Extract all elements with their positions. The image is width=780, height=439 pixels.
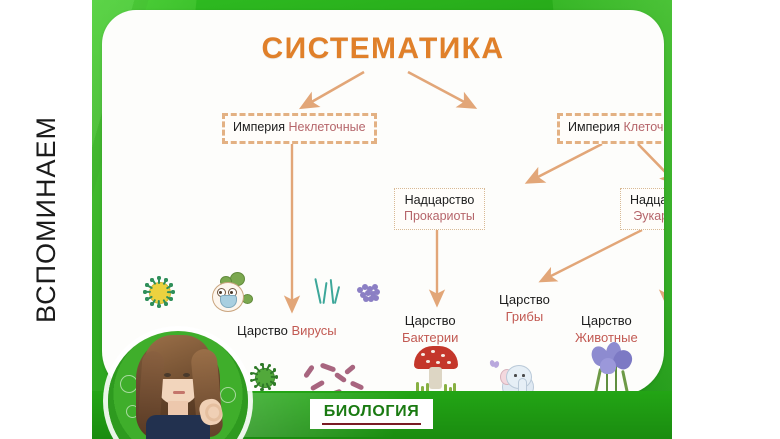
node-term: Прокариоты	[404, 209, 475, 225]
node-term: Вирусы	[291, 323, 336, 338]
node-prefix: Царство	[402, 313, 458, 330]
node-prefix: Надцарство	[630, 193, 664, 209]
slide-screenshot: ВСПОМИНАЕМ СИСТЕМАТИКА	[0, 0, 780, 439]
fly-agaric-mushroom-icon	[414, 344, 458, 395]
node-prefix: Надцарство	[404, 193, 475, 209]
presentation-slide: СИСТЕМАТИКА	[92, 0, 672, 439]
brand-badge: БИОЛОГИЯ	[310, 399, 433, 429]
node-kingdom-fungi[interactable]: Царство Грибы	[499, 292, 550, 325]
bacteria-cluster-icon	[357, 284, 381, 304]
node-prefix: Империя	[233, 120, 285, 134]
node-prefix: Империя	[568, 120, 620, 134]
node-empire-cellular[interactable]: Империя Клеточные	[557, 113, 664, 144]
node-term: Неклеточные	[289, 120, 366, 134]
page-title: СИСТЕМАТИКА	[102, 32, 664, 66]
node-term: Эукариоты	[630, 209, 664, 225]
brand-name: БИОЛОГИЯ	[324, 404, 420, 420]
baby-elephant-icon	[494, 360, 540, 395]
node-empire-noncellular[interactable]: Империя Неклеточные	[222, 113, 377, 144]
node-kingdom-bacteria[interactable]: Царство Бактерии	[402, 313, 458, 346]
yellow-virus-icon	[142, 275, 176, 309]
brand-underline	[322, 423, 421, 425]
node-prefix: Царство	[499, 292, 550, 309]
node-superkingdom-prokaryotes[interactable]: Надцарство Прокариоты	[394, 188, 485, 230]
bacteria-filament-icon	[315, 278, 341, 310]
node-term: Грибы	[499, 309, 550, 326]
iris-flower-icon	[582, 340, 638, 395]
node-kingdom-viruses[interactable]: Царство Вирусы	[237, 323, 337, 340]
section-label-text: ВСПОМИНАЕМ	[31, 116, 62, 323]
section-label: ВСПОМИНАЕМ	[0, 0, 92, 439]
node-superkingdom-eukaryotes[interactable]: Надцарство Эукариоты	[620, 188, 664, 230]
portrait-figure	[132, 327, 224, 439]
teacher-portrait	[108, 325, 248, 439]
green-virus-icon	[249, 362, 279, 392]
node-term: Клеточные	[624, 120, 665, 134]
node-prefix: Царство	[575, 313, 638, 330]
masked-character-icon	[206, 272, 252, 314]
